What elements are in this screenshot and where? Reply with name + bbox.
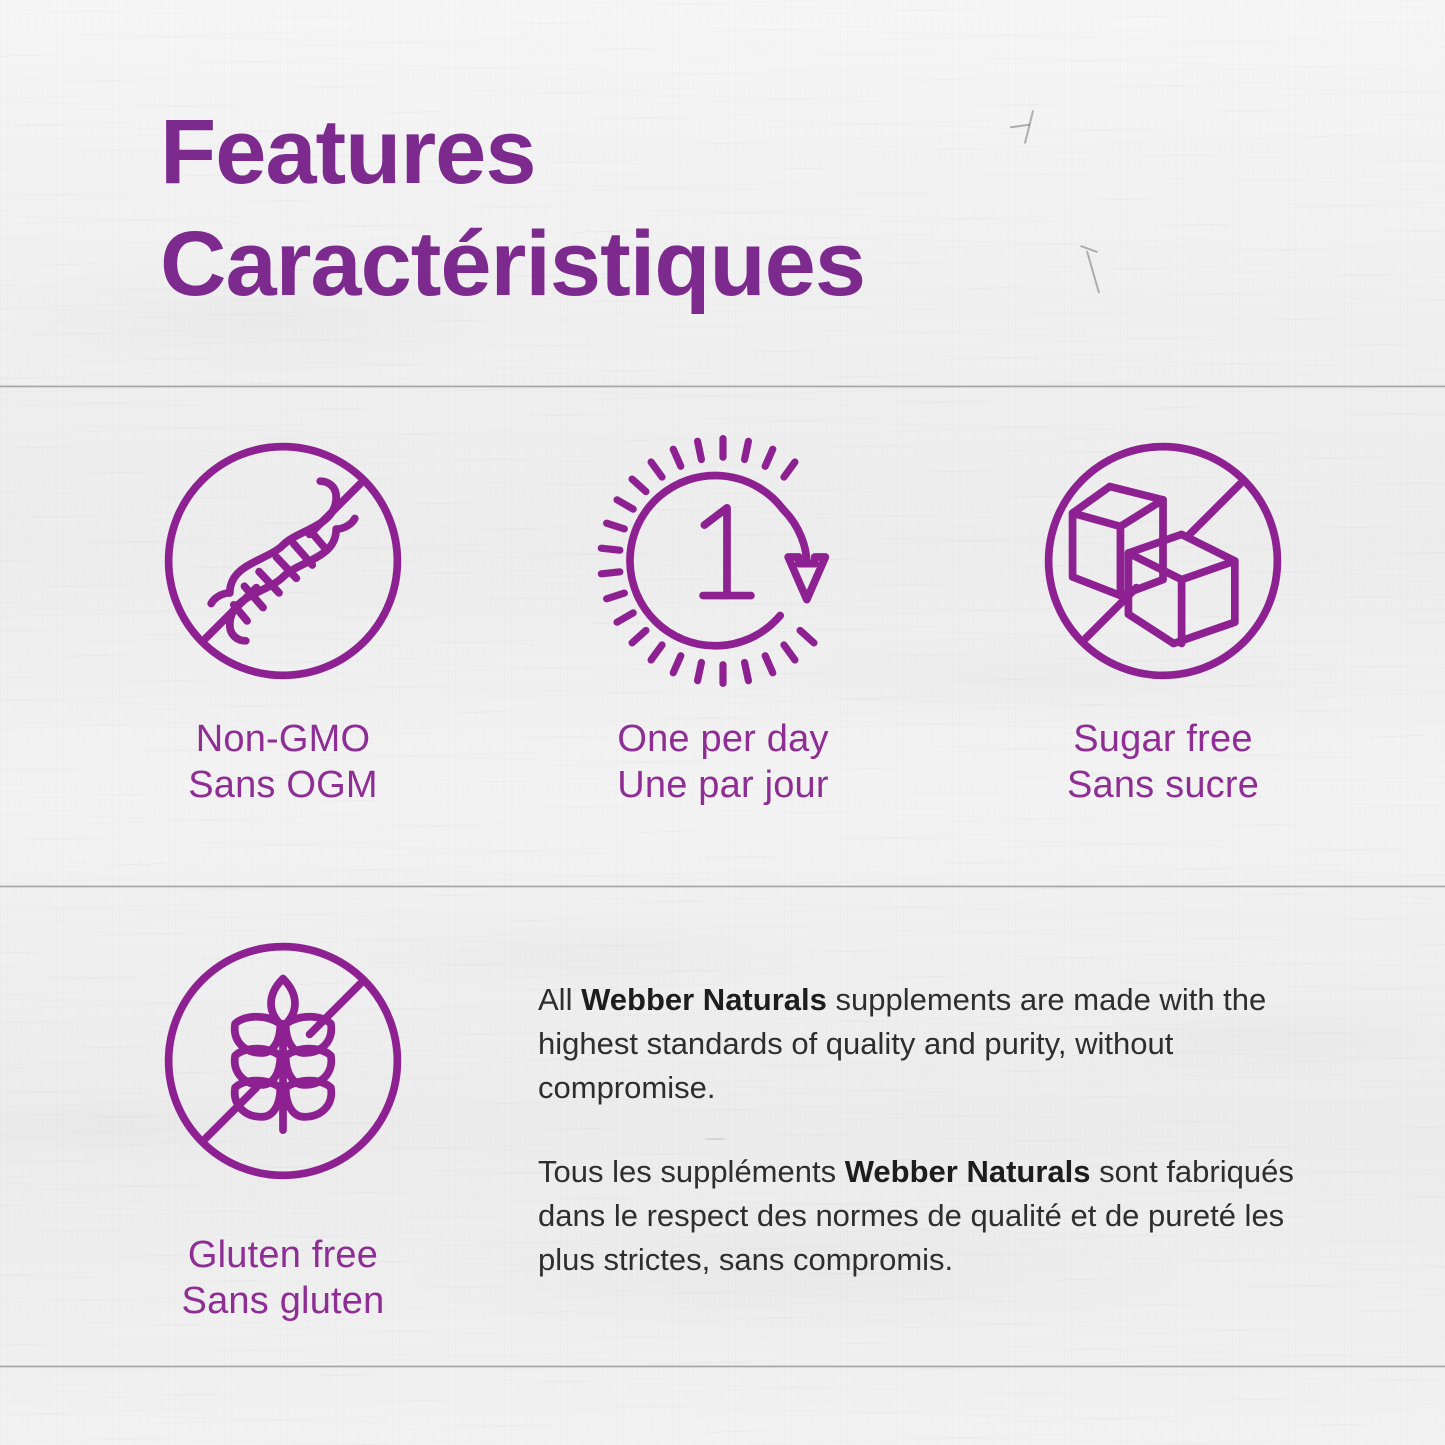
feature-label-fr: Sans sucre: [998, 762, 1328, 808]
brand-name-fr: Webber Naturals: [845, 1154, 1091, 1189]
brand-description: All Webber Naturals supplements are made…: [538, 978, 1328, 1282]
description-en: All Webber Naturals supplements are made…: [538, 978, 1328, 1110]
no-gluten-wheat-icon: [150, 928, 416, 1194]
surface-mark: [1086, 251, 1100, 294]
feature-label-en: Gluten free: [118, 1232, 448, 1278]
feature-label: Gluten free Sans gluten: [118, 1232, 448, 1325]
feature-label: Non-GMO Sans OGM: [118, 716, 448, 809]
feature-gluten-free: Gluten free Sans gluten: [118, 928, 448, 1325]
feature-label-fr: Une par jour: [558, 762, 888, 808]
feature-sugar-free: Sugar free Sans sucre: [998, 428, 1328, 809]
feature-one-per-day: One per day Une par jour: [558, 428, 888, 809]
feature-non-gmo: Non-GMO Sans OGM: [118, 428, 448, 809]
plank-seam-3: [0, 1365, 1445, 1368]
feature-label-en: Non-GMO: [118, 716, 448, 762]
surface-mark: [1080, 245, 1098, 253]
no-sugar-cubes-icon: [1030, 428, 1296, 694]
feature-label: Sugar free Sans sucre: [998, 716, 1328, 809]
description-fr: Tous les suppléments Webber Naturals son…: [538, 1150, 1328, 1282]
surface-mark: [1024, 110, 1034, 143]
desc-fr-pre: Tous les suppléments: [538, 1154, 845, 1189]
feature-label: One per day Une par jour: [558, 716, 888, 809]
plank-seam-1: [0, 385, 1445, 388]
feature-label-en: One per day: [558, 716, 888, 762]
feature-label-en: Sugar free: [998, 716, 1328, 762]
features-panel: Features Caractéristiques: [0, 0, 1445, 1445]
feature-label-fr: Sans gluten: [118, 1278, 448, 1324]
page-title: Features Caractéristiques: [160, 96, 865, 320]
page-title-en: Features: [160, 96, 865, 208]
brand-name-en: Webber Naturals: [581, 982, 827, 1017]
page-title-fr: Caractéristiques: [160, 208, 865, 320]
surface-mark: [1010, 124, 1030, 129]
desc-en-pre: All: [538, 982, 581, 1017]
one-per-day-icon: [590, 428, 856, 694]
feature-label-fr: Sans OGM: [118, 762, 448, 808]
no-gmo-dna-icon: [150, 428, 416, 694]
plank-seam-2: [0, 885, 1445, 888]
